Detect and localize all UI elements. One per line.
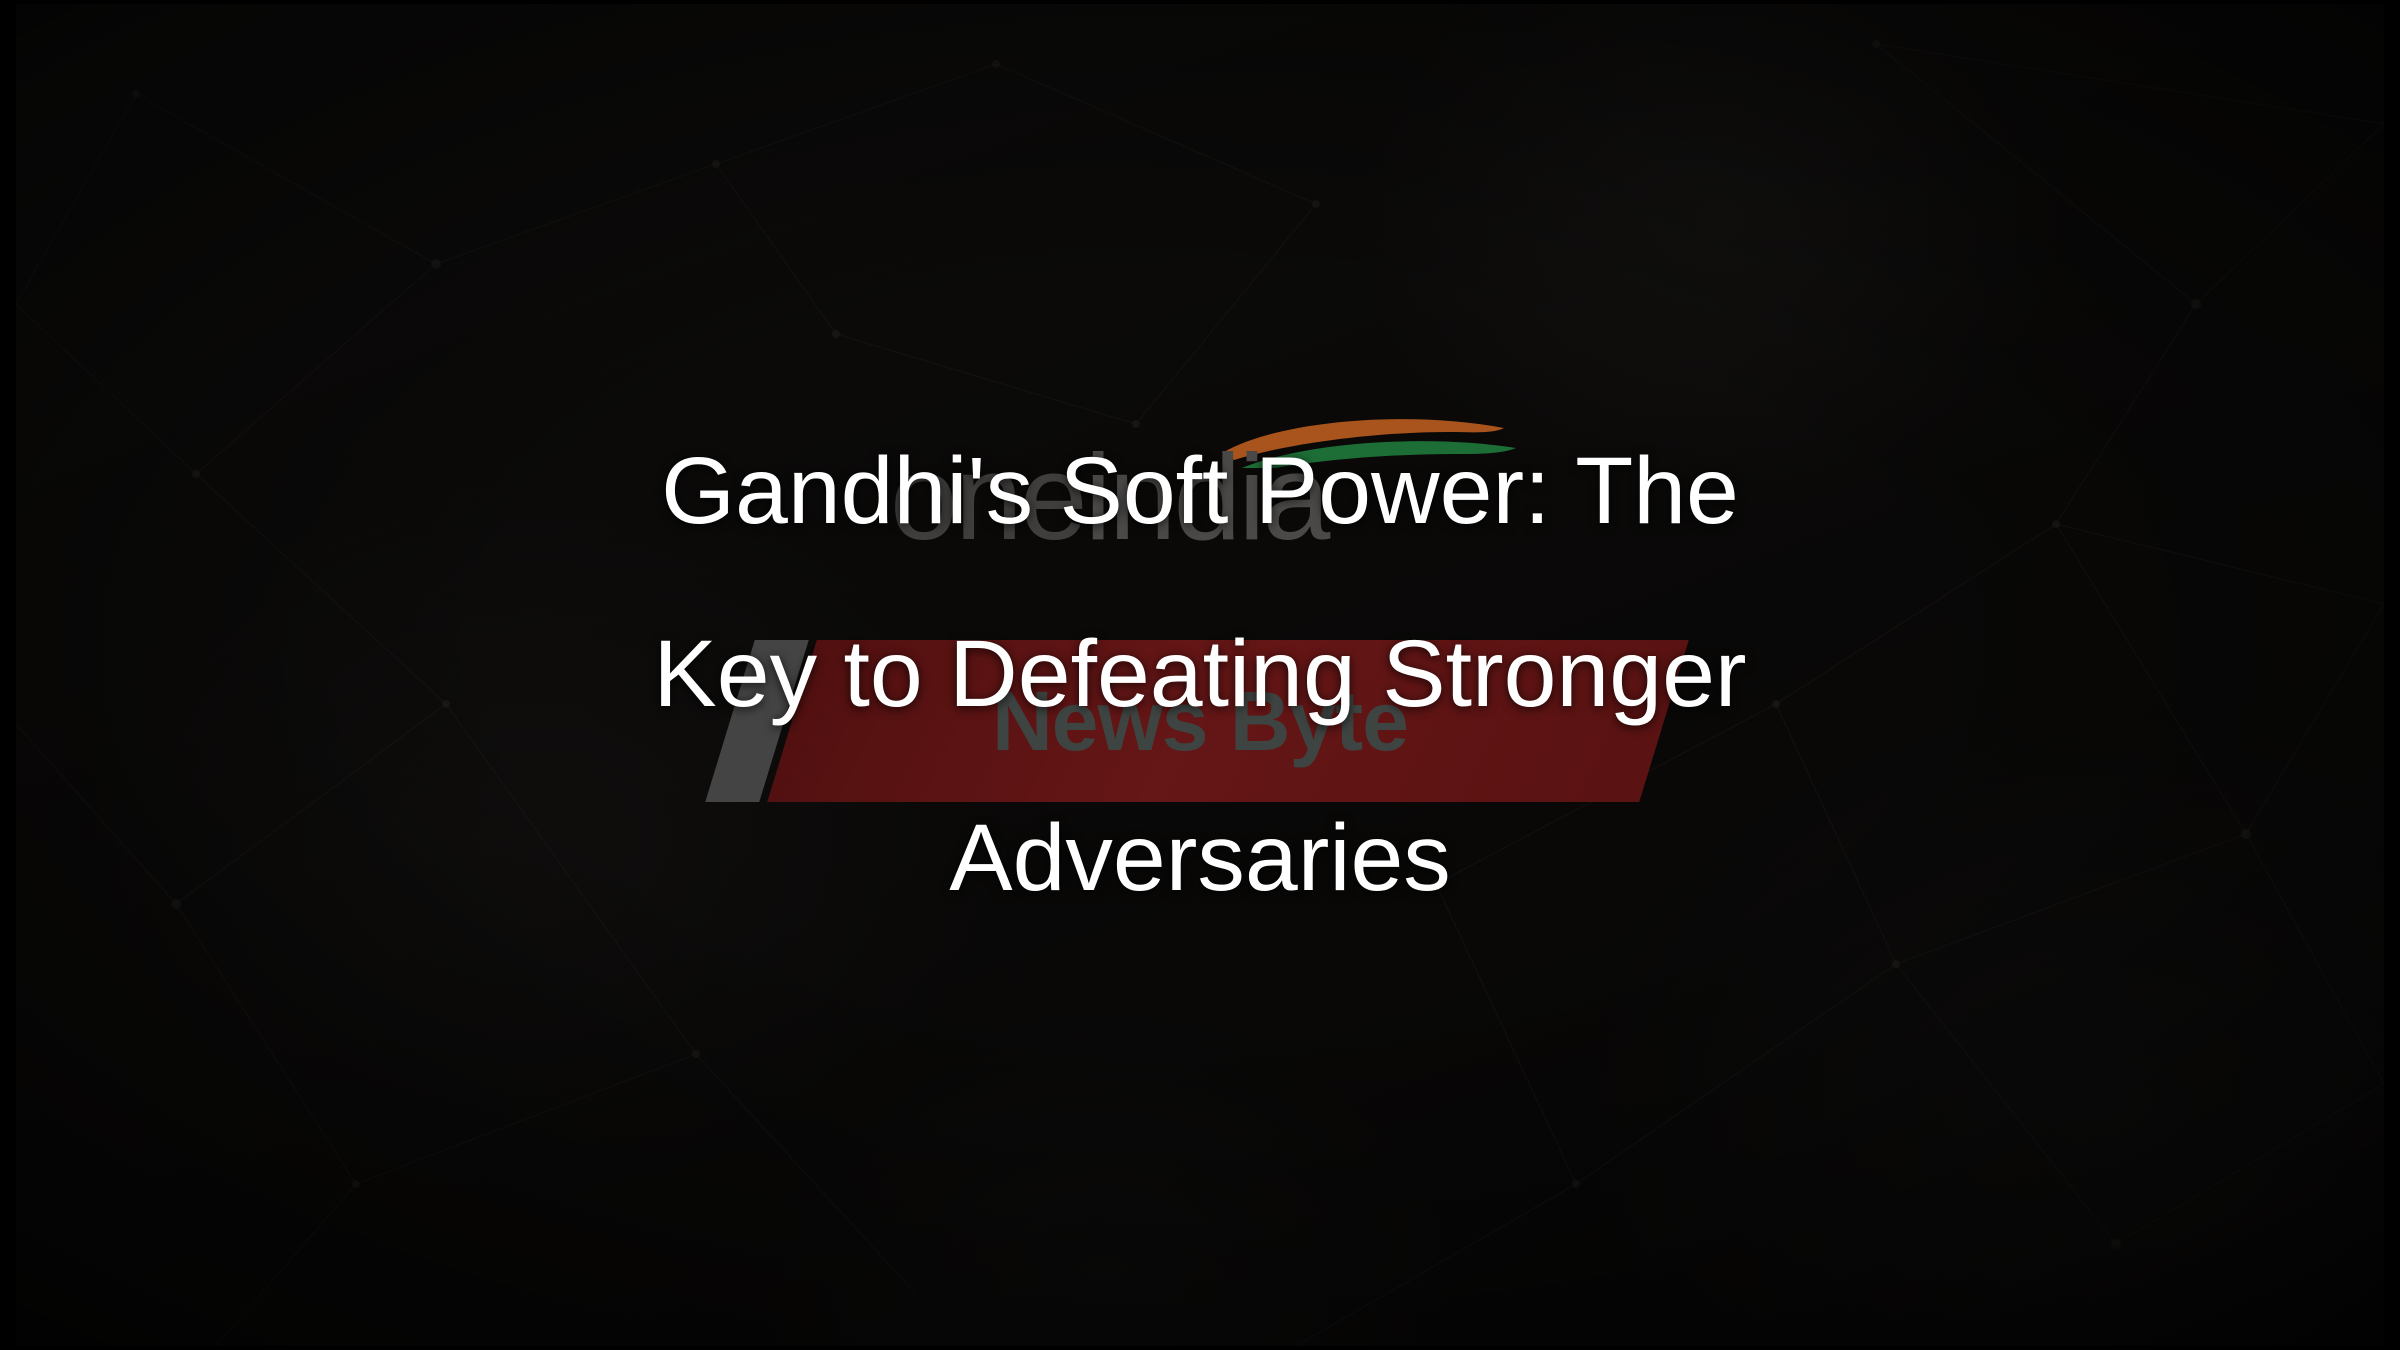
background-network-pattern (16, 4, 2384, 1346)
video-content-area: oneindia News Byte Gandhi's Soft Power: … (16, 4, 2384, 1346)
video-frame: oneindia News Byte Gandhi's Soft Power: … (0, 0, 2400, 1350)
